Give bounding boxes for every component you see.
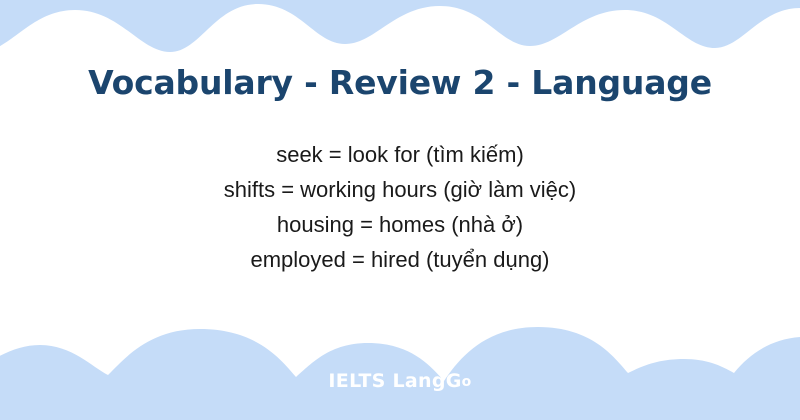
vocabulary-item: shifts = working hours (giờ làm việc)	[0, 172, 800, 207]
top-cloud-border	[0, 0, 800, 52]
vocabulary-item: seek = look for (tìm kiếm)	[0, 137, 800, 172]
brand-name: IELTS LangG	[328, 370, 461, 392]
brand-ring-icon: o	[462, 374, 472, 390]
page-title: Vocabulary - Review 2 - Language	[0, 63, 800, 102]
vocabulary-item: housing = homes (nhà ở)	[0, 207, 800, 242]
bottom-cloud-border	[0, 295, 800, 420]
vocabulary-list: seek = look for (tìm kiếm) shifts = work…	[0, 137, 800, 277]
vocabulary-item: employed = hired (tuyển dụng)	[0, 242, 800, 277]
slide-canvas: Vocabulary - Review 2 - Language seek = …	[0, 0, 800, 420]
brand-logo: IELTS LangGo	[0, 370, 800, 392]
